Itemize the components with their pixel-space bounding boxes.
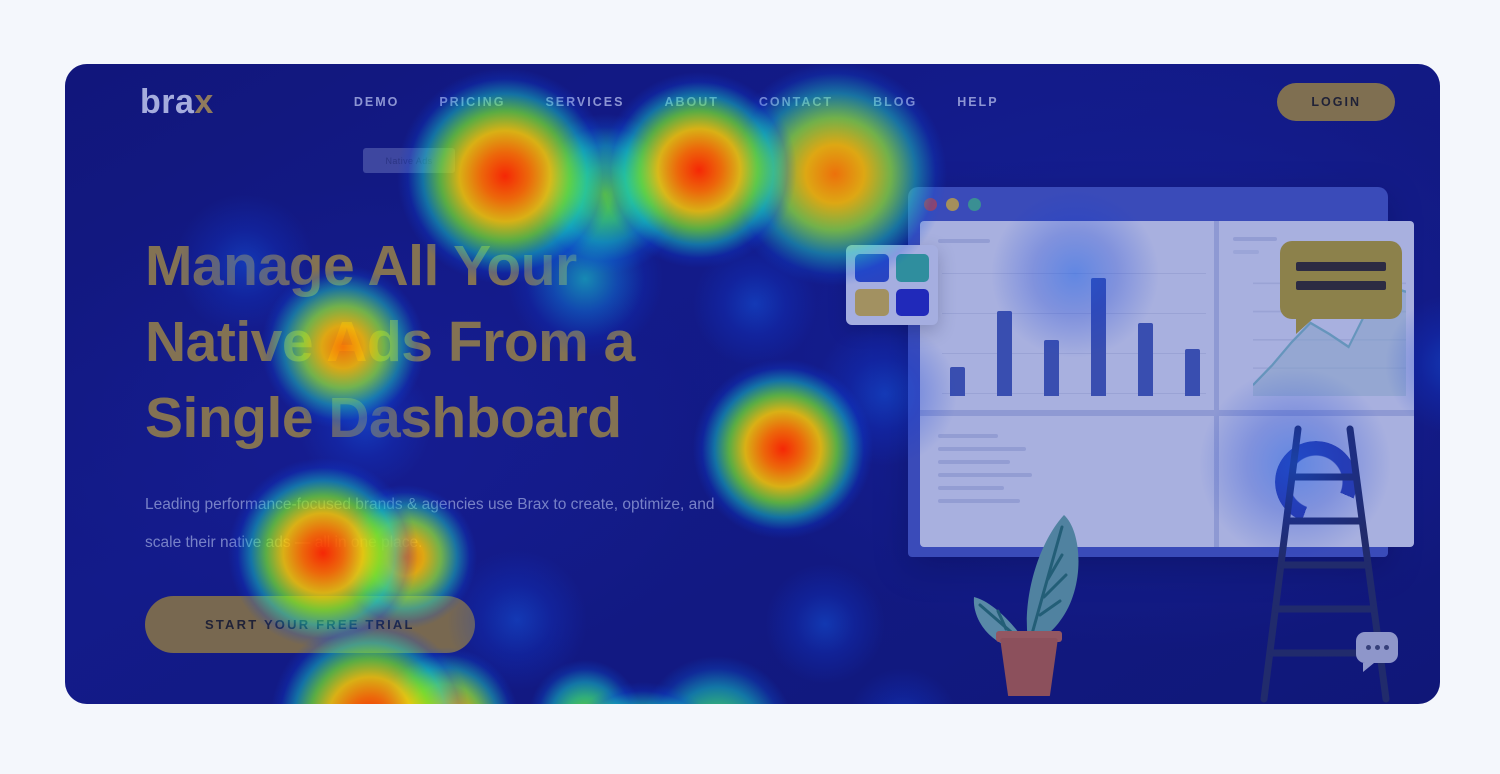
bar-2 xyxy=(997,311,1012,396)
bubble-line xyxy=(1296,281,1386,290)
hero-card: brax DEMO PRICING SERVICES ABOUT CONTACT… xyxy=(65,64,1440,704)
row-placeholder xyxy=(938,447,1026,451)
screenshot-stage: brax DEMO PRICING SERVICES ABOUT CONTACT… xyxy=(0,0,1500,774)
bar-6 xyxy=(1185,349,1200,396)
heatmap-hotspot-cta-right-edge xyxy=(529,660,641,704)
chat-bubble-icon xyxy=(1356,632,1398,663)
bar-3 xyxy=(1044,340,1059,397)
minimize-dot[interactable] xyxy=(946,198,959,211)
swatch-green[interactable] xyxy=(896,254,930,282)
row-placeholder xyxy=(938,434,998,438)
swatch-indigo[interactable] xyxy=(896,289,930,317)
logo-text: bra xyxy=(140,83,194,121)
chat-dot xyxy=(1366,645,1371,650)
nav-item-pricing[interactable]: PRICING xyxy=(439,95,505,109)
panel-label-placeholder xyxy=(1233,250,1259,254)
chat-dot xyxy=(1375,645,1380,650)
bar-4 xyxy=(1091,278,1106,396)
bubble-line xyxy=(1296,262,1386,271)
nav-dropdown-chip[interactable]: Native Ads xyxy=(363,148,455,173)
heatmap-hotspot-cta-button-2 xyxy=(371,647,519,704)
bar-1 xyxy=(950,367,965,397)
plant-pot xyxy=(1000,638,1058,696)
hero-copy: Manage All Your Native Ads From a Single… xyxy=(145,229,745,653)
nav-item-services[interactable]: SERVICES xyxy=(545,95,624,109)
nav-item-contact[interactable]: CONTACT xyxy=(759,95,833,109)
panel-label-placeholder xyxy=(1233,237,1277,241)
dashboard-illustration xyxy=(840,169,1440,704)
nav-item-demo[interactable]: DEMO xyxy=(354,95,400,109)
heatmap-hotspot-below-cta-2 xyxy=(639,656,795,704)
brax-logo[interactable]: brax xyxy=(140,83,214,122)
close-dot[interactable] xyxy=(924,198,937,211)
swatch-blue[interactable] xyxy=(855,254,889,282)
nav-item-help[interactable]: HELP xyxy=(957,95,998,109)
chat-dot xyxy=(1384,645,1389,650)
login-button[interactable]: LOGIN xyxy=(1277,83,1395,121)
nav-item-blog[interactable]: BLOG xyxy=(873,95,917,109)
logo-accent-x: x xyxy=(194,83,213,121)
bar-chart-panel xyxy=(920,221,1219,410)
page-title: Manage All Your Native Ads From a Single… xyxy=(145,229,745,456)
swatch-yellow[interactable] xyxy=(855,289,889,317)
color-swatch-card xyxy=(846,245,938,325)
browser-titlebar xyxy=(908,187,1388,221)
hero-subtitle: Leading performance-focused brands & age… xyxy=(145,486,725,562)
gridline xyxy=(942,273,1206,274)
heatmap-hotspot-below-cta xyxy=(555,682,731,704)
bar-chart xyxy=(950,278,1200,396)
nav-links: DEMO PRICING SERVICES ABOUT CONTACT BLOG… xyxy=(354,95,999,109)
bubble-tail xyxy=(1296,316,1316,334)
start-free-trial-button[interactable]: START YOUR FREE TRIAL xyxy=(145,596,475,653)
chat-widget-button[interactable] xyxy=(1356,632,1398,666)
panel-label-placeholder xyxy=(938,239,990,243)
maximize-dot[interactable] xyxy=(968,198,981,211)
navbar: brax DEMO PRICING SERVICES ABOUT CONTACT… xyxy=(65,64,1440,140)
row-placeholder xyxy=(938,460,1010,464)
speech-bubble-icon xyxy=(1280,241,1402,319)
chat-tail xyxy=(1363,663,1374,672)
nav-item-about[interactable]: ABOUT xyxy=(664,95,718,109)
potted-plant-icon xyxy=(948,469,1108,704)
bar-5 xyxy=(1138,323,1153,396)
